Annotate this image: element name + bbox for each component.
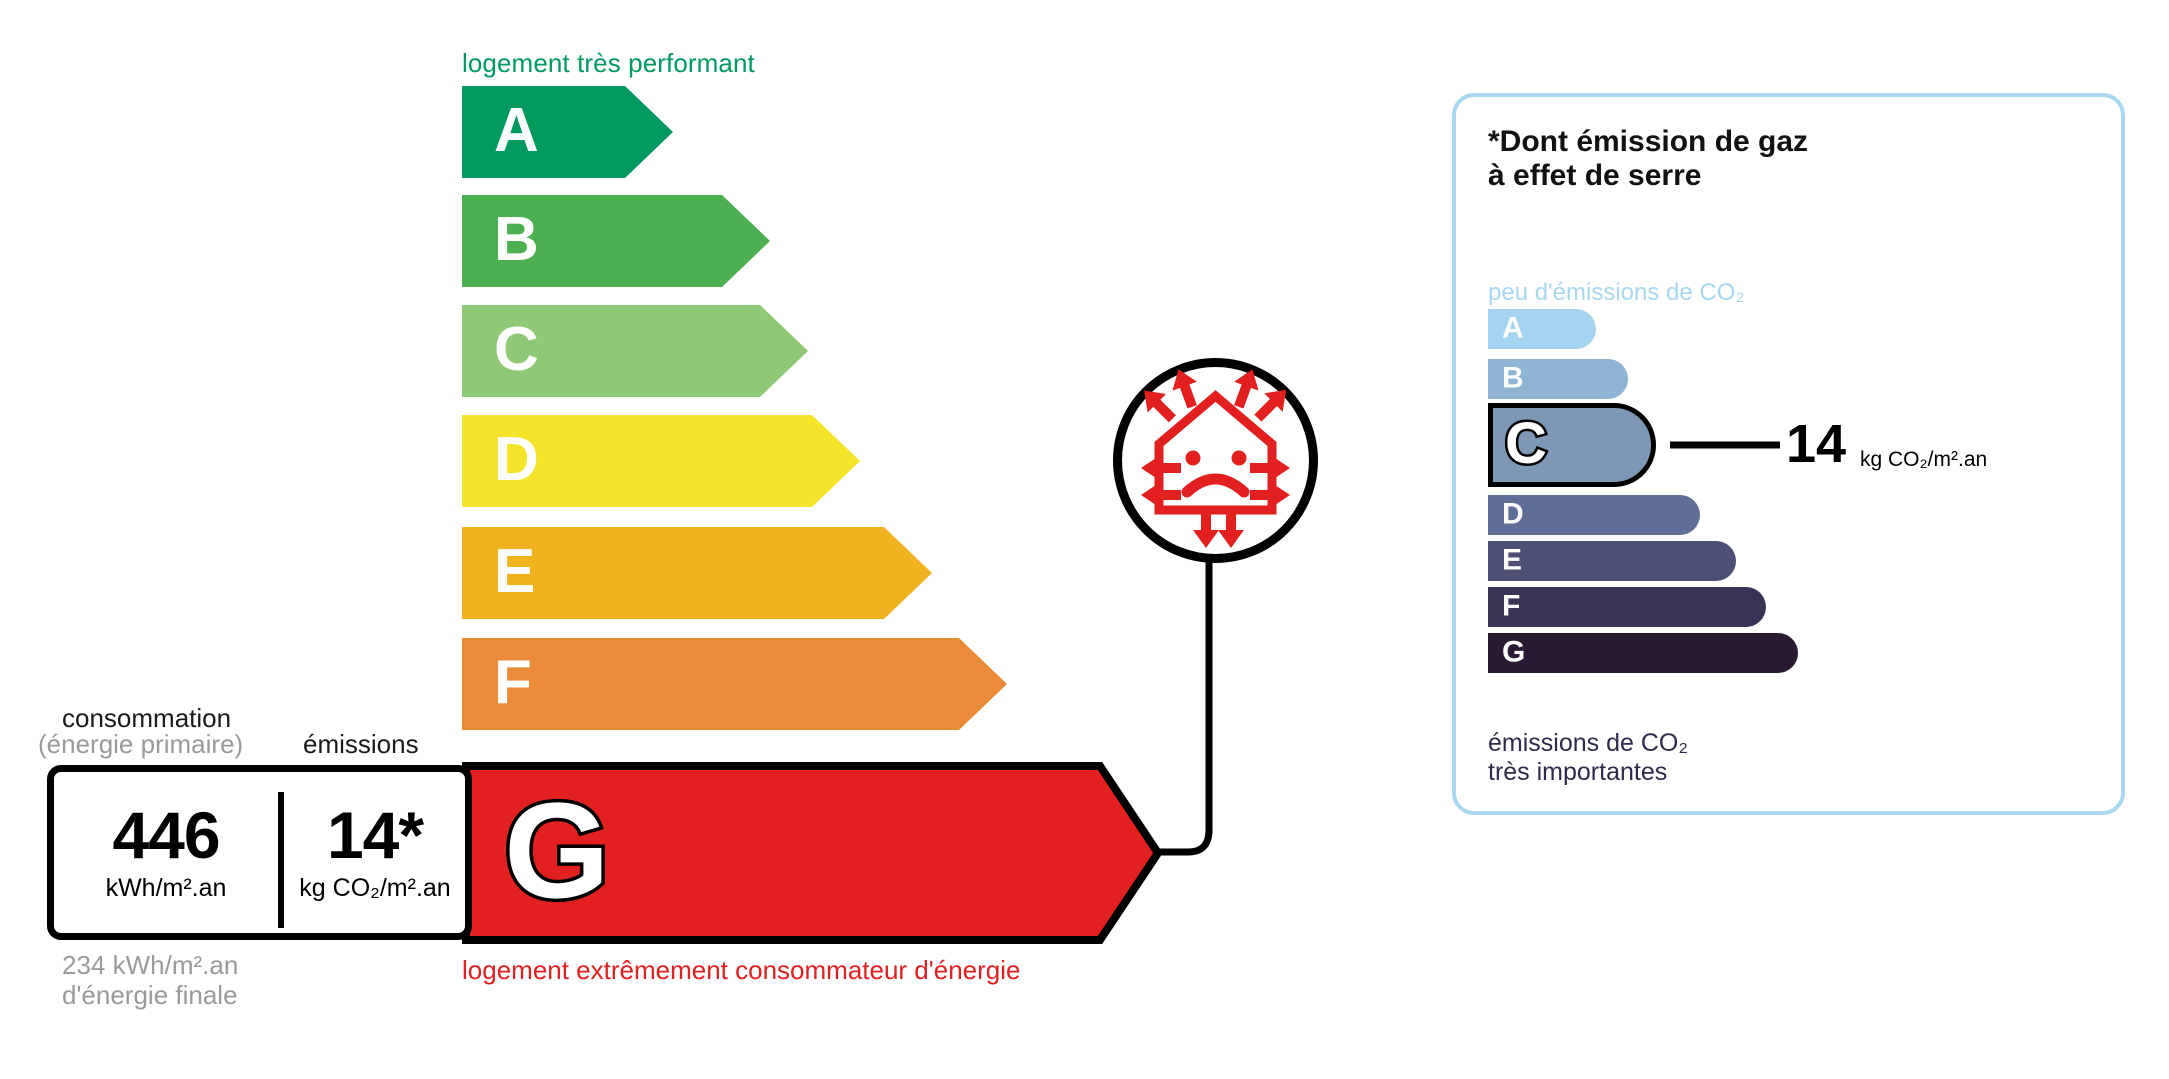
energy-bar-e: E (462, 527, 932, 619)
ghg-value-unit: kg CO₂/m².an (1860, 449, 1987, 470)
scale-bottom-label: logement extrêmement consommateur d'éner… (462, 955, 1020, 986)
ghg-panel-title: *Dont émission de gaz à effet de serre (1488, 125, 1808, 193)
ghg-bar-letter-d: D (1502, 499, 1524, 529)
ghg-title-line-2: à effet de serre (1488, 159, 1808, 193)
ghg-bar-e: E (1488, 541, 1736, 581)
energy-bar-letter-e: E (494, 541, 535, 603)
energy-bar-d: D (462, 415, 860, 507)
consumption-unit: kWh/m².an (106, 874, 227, 903)
energy-bar-letter-g: G (504, 782, 610, 918)
ghg-bar-f: F (1488, 587, 1766, 627)
ghg-bottom-caption-line-2: très importantes (1488, 758, 1688, 787)
energy-bar-c: C (462, 305, 808, 397)
consumption-sub-label: (énergie primaire) (38, 729, 243, 760)
scale-top-label: logement très performant (462, 48, 755, 79)
ghg-bar-letter-g: G (1502, 637, 1525, 667)
energy-bar-b: B (462, 195, 770, 287)
ghg-bottom-caption-line-1: émissions de CO₂ (1488, 729, 1688, 758)
energy-bar-letter-b: B (494, 209, 539, 271)
energy-bar-letter-d: D (494, 429, 539, 491)
ghg-bar-g: G (1488, 633, 1798, 673)
final-energy-sub: d'énergie finale (62, 980, 238, 1010)
consumption-value: 446 (112, 802, 219, 868)
ghg-bar-a: A (1488, 309, 1596, 349)
ghg-bar-c-current: C (1488, 403, 1656, 487)
sad-house-heat-loss-icon (1113, 358, 1318, 563)
energy-performance-scale: logement très performant ABCDEF 446 kWh/… (0, 0, 1260, 1079)
emissions-unit: kg CO₂/m².an (299, 874, 450, 903)
ghg-bar-d: D (1488, 495, 1700, 535)
ghg-value: 14 (1786, 417, 1846, 471)
energy-bar-f: F (462, 638, 1007, 730)
value-summary-box: 446 kWh/m².an 14* kg CO₂/m².an (47, 765, 472, 940)
energy-bar-letter-f: F (494, 652, 532, 714)
ghg-top-caption: peu d'émissions de CO₂ (1488, 279, 1745, 307)
consumption-cell: 446 kWh/m².an (54, 772, 278, 933)
ghg-bar-b: B (1488, 359, 1628, 399)
ghg-bar-letter-e: E (1502, 545, 1522, 575)
ghg-bar-letter-a: A (1502, 313, 1524, 343)
ghg-bar-letter-b: B (1502, 363, 1524, 393)
energy-bar-letter-a: A (494, 100, 539, 162)
ghg-title-line-1: *Dont émission de gaz (1488, 125, 1808, 159)
ghg-bar-letter-f: F (1502, 591, 1520, 621)
energy-bar-g-current: G (462, 762, 1162, 944)
emissions-label: émissions (303, 729, 419, 760)
energy-bar-a: A (462, 86, 673, 178)
final-energy-value: 234 kWh/m².an (62, 950, 238, 980)
ghg-emissions-panel: *Dont émission de gaz à effet de serre p… (1452, 93, 2125, 815)
ghg-bar-letter-c: C (1505, 415, 1547, 473)
final-energy-label: 234 kWh/m².an d'énergie finale (62, 950, 238, 1010)
emissions-value: 14* (327, 802, 423, 868)
emissions-cell: 14* kg CO₂/m².an (284, 772, 466, 933)
energy-bar-letter-c: C (494, 319, 539, 381)
ghg-bottom-caption: émissions de CO₂ très importantes (1488, 729, 1688, 787)
